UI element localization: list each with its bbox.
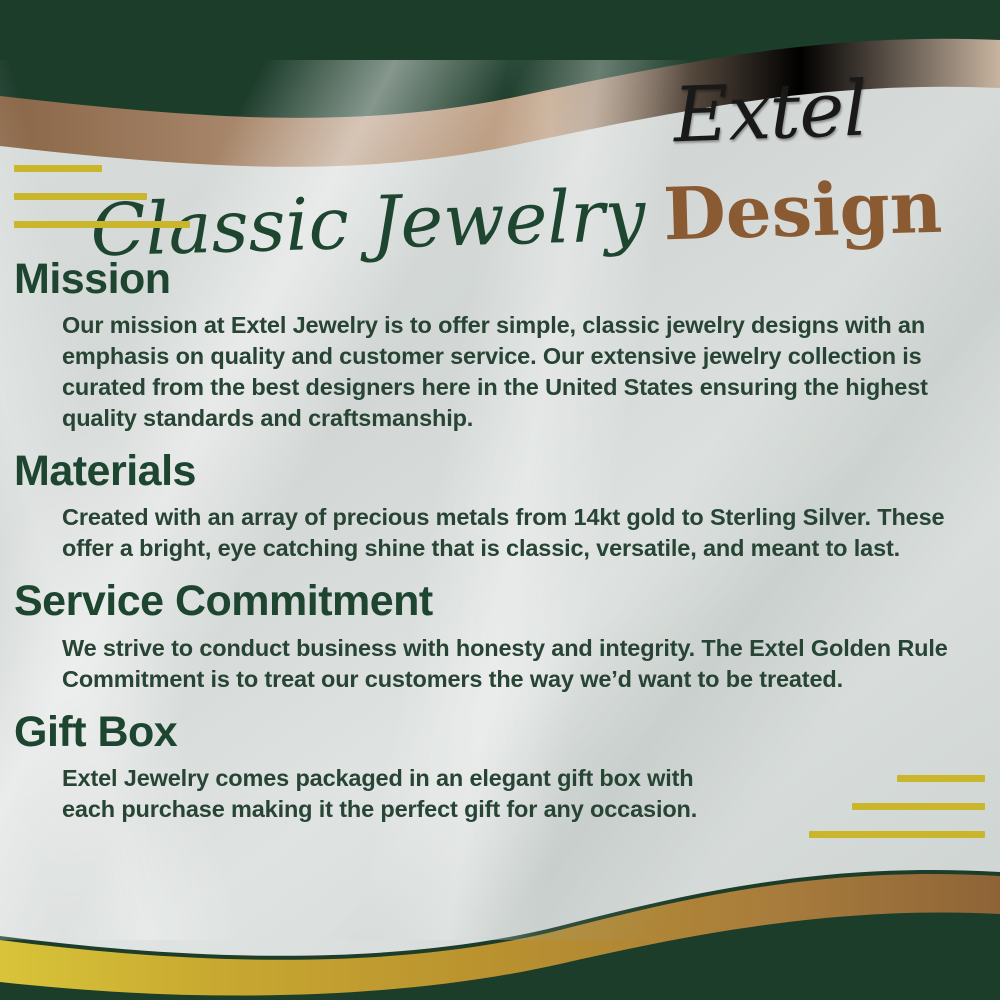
section-body: Our mission at Extel Jewelry is to offer…: [0, 310, 1000, 434]
headline-secondary: Design: [662, 171, 943, 251]
poster-canvas: Extel Classic Jewelry Design Mission Our…: [0, 0, 1000, 1000]
decorative-rule-top-3: [14, 221, 190, 228]
decorative-rules-top: [14, 165, 190, 228]
brand-wordmark: Extel: [599, 70, 941, 154]
decorative-rule-bottom-2: [852, 803, 985, 810]
decorative-rules-bottom: [809, 775, 985, 838]
decorative-rule-top-1: [14, 165, 102, 172]
sections-container: Mission Our mission at Extel Jewelry is …: [0, 255, 1000, 825]
decorative-rule-top-2: [14, 193, 147, 200]
section-body: Created with an array of precious metals…: [0, 502, 1000, 564]
decorative-rule-bottom-1: [897, 775, 985, 782]
section-heading: Mission: [0, 255, 1000, 303]
section-heading: Gift Box: [0, 708, 1000, 756]
section-service-commitment: Service Commitment We strive to conduct …: [0, 577, 1000, 694]
section-heading: Service Commitment: [0, 577, 1000, 625]
decorative-rule-bottom-3: [809, 831, 985, 838]
section-heading: Materials: [0, 447, 1000, 495]
section-materials: Materials Created with an array of preci…: [0, 447, 1000, 564]
section-mission: Mission Our mission at Extel Jewelry is …: [0, 255, 1000, 434]
section-body: We strive to conduct business with hones…: [0, 633, 1000, 695]
